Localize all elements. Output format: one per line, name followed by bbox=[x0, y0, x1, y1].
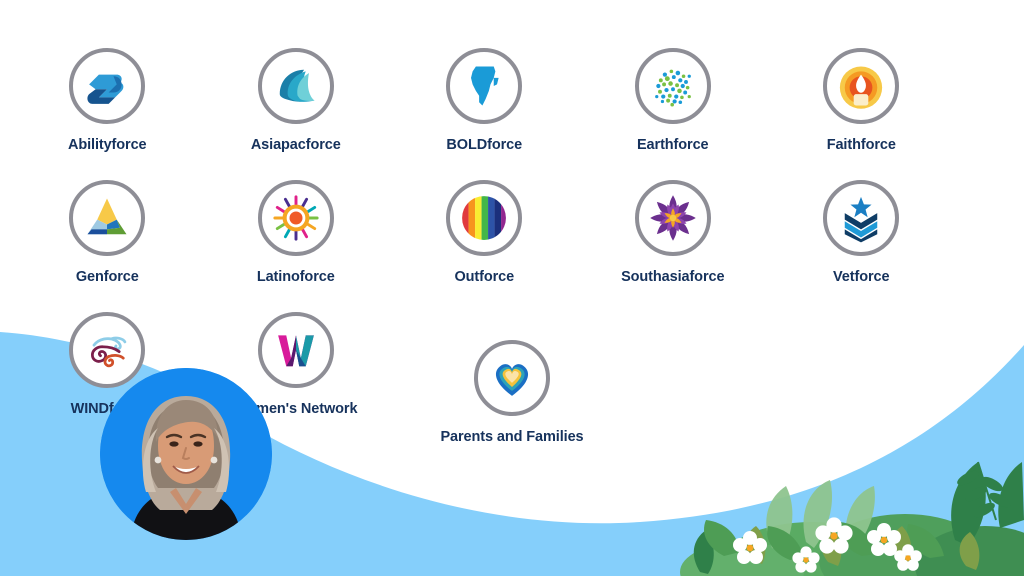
parents-and-families-icon[interactable] bbox=[474, 340, 550, 416]
group-label: Asiapacforce bbox=[251, 137, 341, 153]
outforce-icon[interactable] bbox=[446, 180, 522, 256]
group-item-outforce[interactable]: Outforce bbox=[403, 180, 566, 285]
earthforce-icon[interactable] bbox=[635, 48, 711, 124]
latinoforce-icon[interactable] bbox=[258, 180, 334, 256]
group-item-parents-and-families[interactable]: Parents and Families bbox=[440, 340, 583, 445]
group-item-latinoforce[interactable]: Latinoforce bbox=[215, 180, 378, 285]
group-label: BOLDforce bbox=[446, 137, 522, 153]
group-item-abilityforce[interactable]: Abilityforce bbox=[26, 48, 189, 153]
group-label: Vetforce bbox=[833, 269, 889, 285]
group-item-vetforce[interactable]: Vetforce bbox=[780, 180, 943, 285]
asiapacforce-icon[interactable] bbox=[258, 48, 334, 124]
group-label: Outforce bbox=[454, 269, 514, 285]
abilityforce-icon[interactable] bbox=[69, 48, 145, 124]
group-item-genforce[interactable]: Genforce bbox=[26, 180, 189, 285]
vetforce-icon[interactable] bbox=[823, 180, 899, 256]
group-item-asiapacforce[interactable]: Asiapacforce bbox=[215, 48, 378, 153]
group-item-faithforce[interactable]: Faithforce bbox=[780, 48, 943, 153]
group-label: Faithforce bbox=[827, 137, 896, 153]
faithforce-icon[interactable] bbox=[823, 48, 899, 124]
group-item-earthforce[interactable]: Earthforce bbox=[592, 48, 755, 153]
southasiaforce-icon[interactable] bbox=[635, 180, 711, 256]
group-label: Genforce bbox=[76, 269, 139, 285]
genforce-icon[interactable] bbox=[69, 180, 145, 256]
group-label: Earthforce bbox=[637, 137, 709, 153]
group-label: Latinoforce bbox=[257, 269, 335, 285]
presenter-headshot bbox=[100, 368, 272, 540]
group-label: Parents and Families bbox=[440, 429, 583, 445]
foliage-flowers-illustration bbox=[680, 462, 1024, 576]
group-label: Abilityforce bbox=[68, 137, 147, 153]
presenter-avatar bbox=[100, 368, 272, 540]
group-item-boldforce[interactable]: BOLDforce bbox=[403, 48, 566, 153]
group-label: Southasiaforce bbox=[621, 269, 724, 285]
flower bbox=[733, 517, 922, 572]
boldforce-icon[interactable] bbox=[446, 48, 522, 124]
group-item-southasiaforce[interactable]: Southasiaforce bbox=[592, 180, 755, 285]
